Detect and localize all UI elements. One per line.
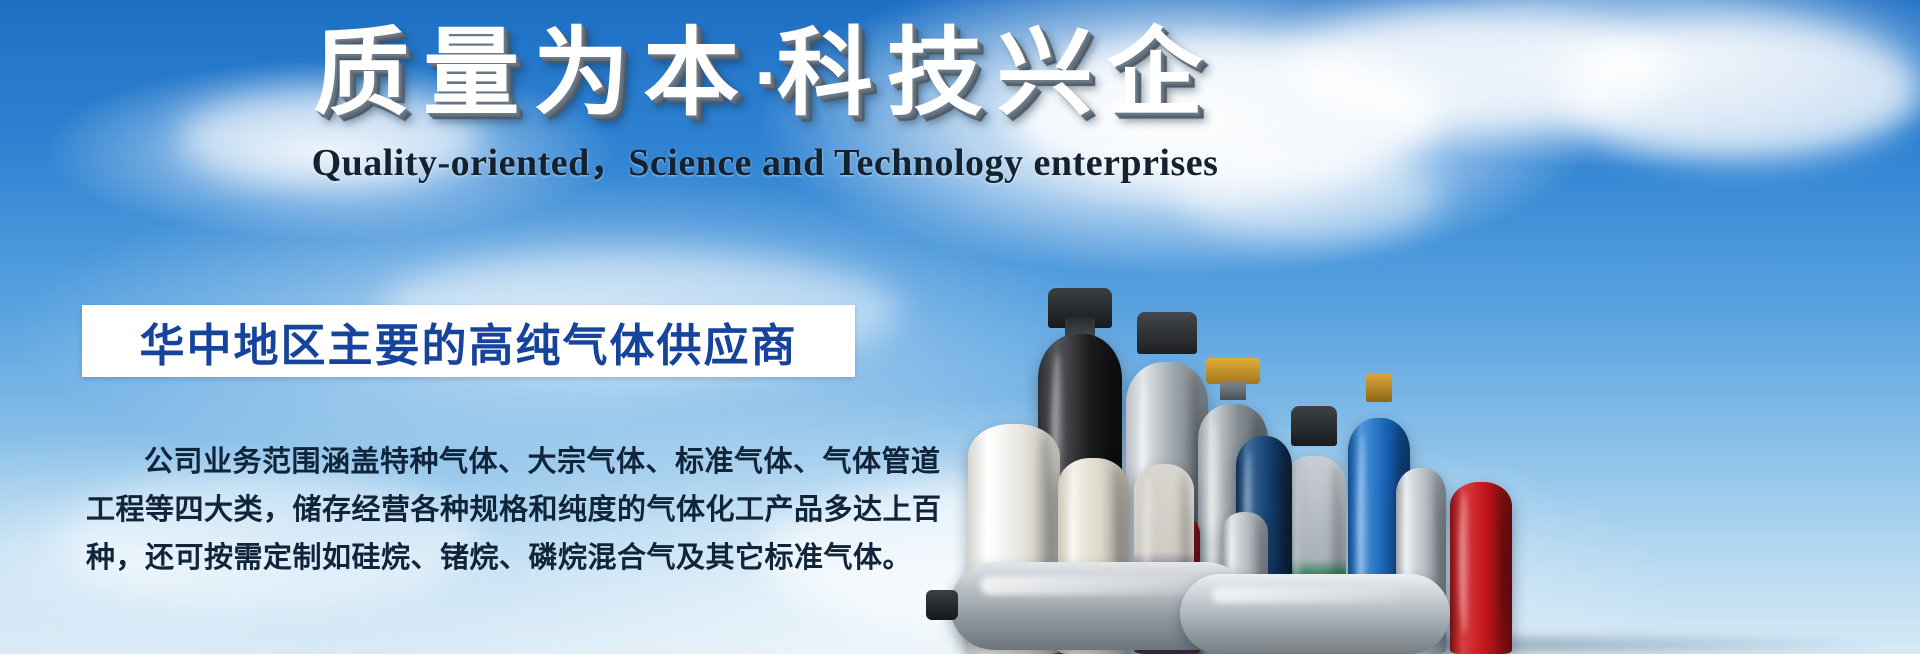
cylinder-cap <box>1291 406 1337 446</box>
cloud-decoration <box>1560 20 1920 160</box>
red-aluminium-cylinder <box>1450 482 1512 654</box>
cylinder-body <box>1450 482 1512 654</box>
gas-cylinders-collage <box>930 150 1920 654</box>
promo-banner: 质量为本·科技兴企 Quality-oriented，Science and T… <box>0 0 1920 654</box>
cylinder-neck <box>1220 382 1246 400</box>
tagline-box: 华中地区主要的高纯气体供应商 <box>82 305 855 377</box>
headline-left: 质量为本 <box>313 17 753 129</box>
headline-separator: · <box>753 42 777 115</box>
cylinder-shade <box>1495 489 1509 644</box>
cylinder-gloss <box>1460 492 1469 633</box>
description-line: 工程等四大类，储存经营各种规格和纯度的气体化工产品多达上百 <box>86 485 861 533</box>
description-line: 种，还可按需定制如硅烷、锗烷、磷烷混合气及其它标准气体。 <box>86 533 861 581</box>
cylinder-cap <box>1137 312 1197 354</box>
brass-valve-icon <box>1206 358 1260 384</box>
valve-icon <box>1366 374 1392 402</box>
tank-gloss <box>1212 587 1401 603</box>
tagline-text: 华中地区主要的高纯气体供应商 <box>139 309 797 374</box>
banner-description: 公司业务范围涵盖特种气体、大宗气体、标准气体、气体管道 工程等四大类，储存经营各… <box>86 437 861 581</box>
tank-gloss <box>980 576 1196 595</box>
tank-valve-icon <box>926 590 958 620</box>
description-line: 公司业务范围涵盖特种气体、大宗气体、标准气体、气体管道 <box>86 437 861 485</box>
headline-right: 科技兴企 <box>777 17 1217 129</box>
horizontal-grey-tank <box>1180 574 1450 654</box>
banner-headline: 质量为本·科技兴企 <box>0 22 1530 126</box>
